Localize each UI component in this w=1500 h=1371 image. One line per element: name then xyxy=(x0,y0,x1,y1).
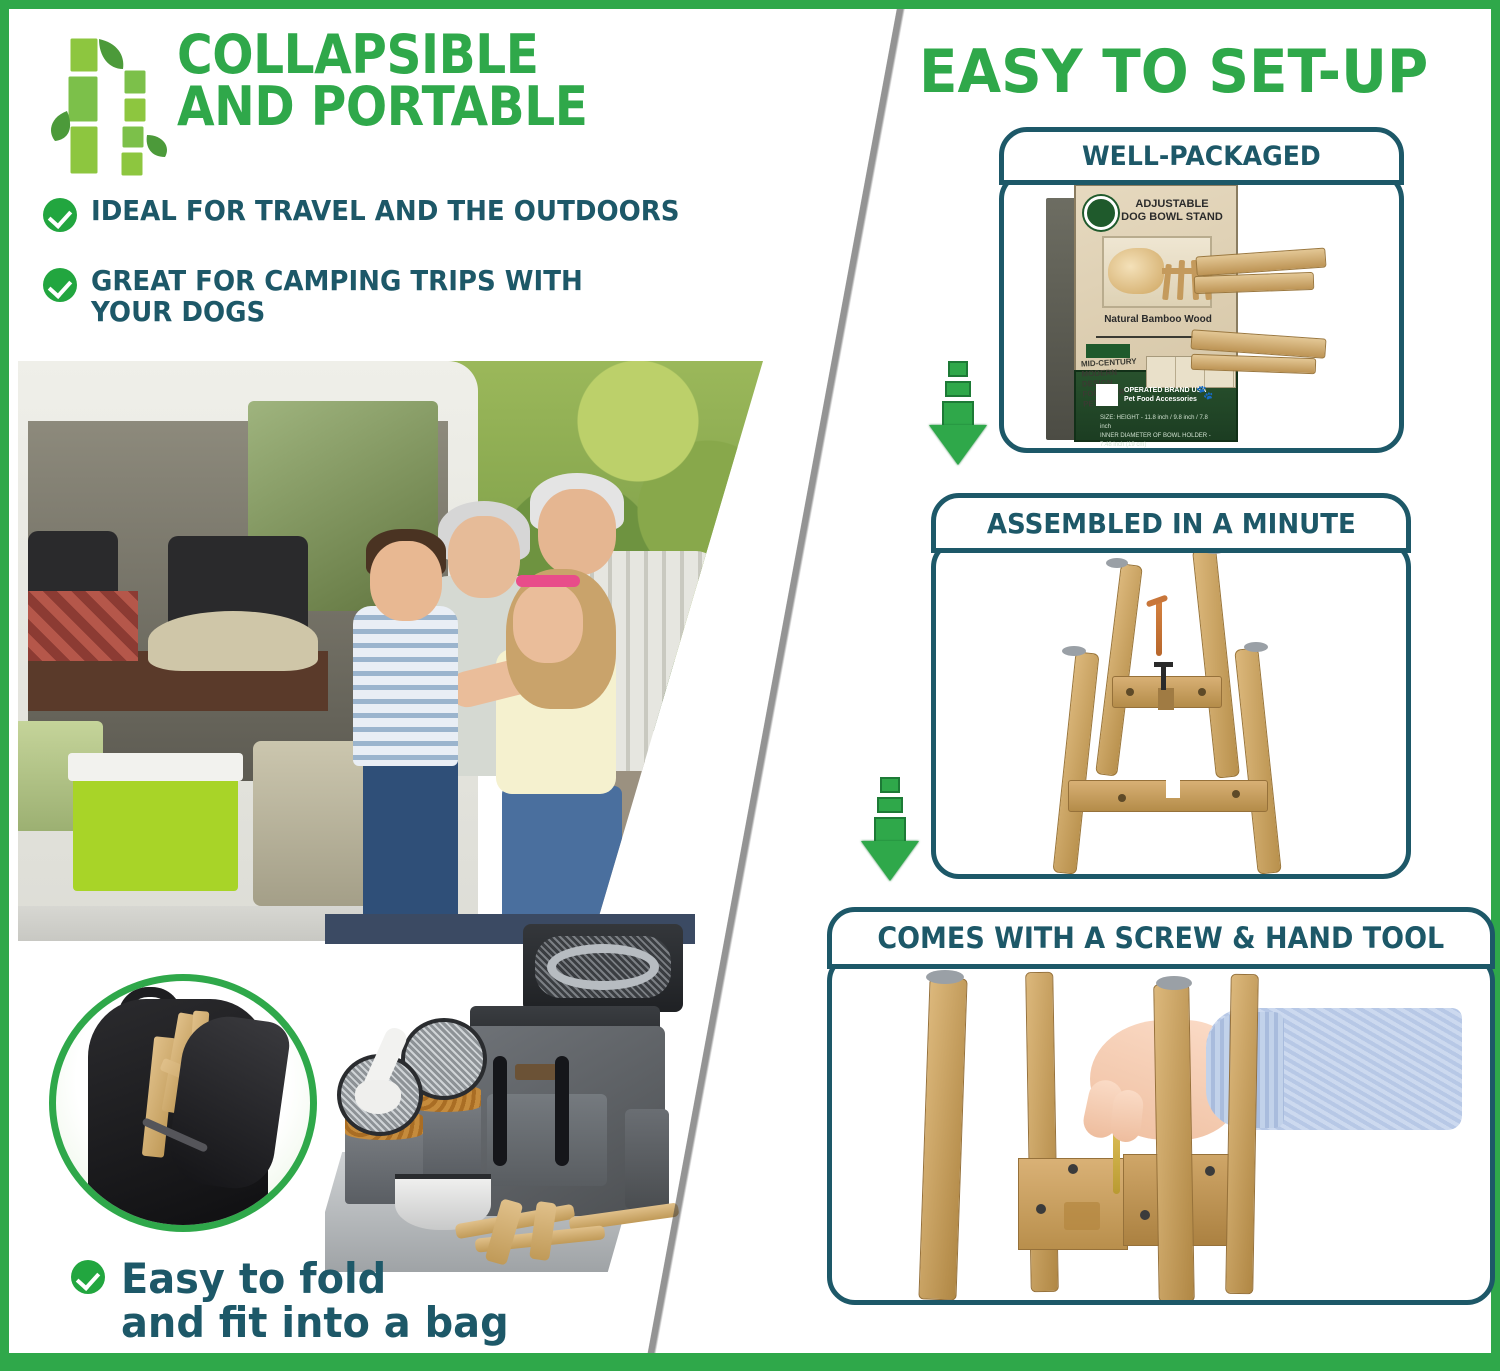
infographic-root: COLLAPSIBLE AND PORTABLE IDEAL FOR TRAVE… xyxy=(0,0,1500,1371)
packaged-box-image: ADJUSTABLE DOG BOWL STAND Natural Bamboo… xyxy=(1046,184,1246,448)
step-3-image-box xyxy=(827,953,1495,1305)
bamboo-icon xyxy=(47,31,172,186)
left-panel: COLLAPSIBLE AND PORTABLE IDEAL FOR TRAVE… xyxy=(9,9,859,1362)
feature-bullet-text: GREAT FOR CAMPING TRIPS WITH YOUR DOGS xyxy=(91,265,583,328)
step-2-label-box: ASSEMBLED IN A MINUTE xyxy=(931,493,1411,553)
step-2-label: ASSEMBLED IN A MINUTE xyxy=(987,507,1356,540)
step-2-image-box xyxy=(931,539,1411,879)
package-subtitle: Natural Bamboo Wood xyxy=(1102,314,1214,325)
bottom-border xyxy=(9,1353,1491,1362)
screw-icon xyxy=(1161,664,1166,690)
backpack-inset-image xyxy=(49,974,317,1232)
step-1-label: WELL-PACKAGED xyxy=(1082,141,1321,172)
package-footer-text: SIZE: HEIGHT - 11.8 inch / 9.8 inch / 7.… xyxy=(1100,414,1220,453)
page-title: COLLAPSIBLE AND PORTABLE xyxy=(177,29,645,134)
family-with-dog-photo xyxy=(18,361,763,941)
travel-bag-set-photo xyxy=(325,914,695,1274)
folded-stand-image xyxy=(1006,548,1336,870)
package-title: ADJUSTABLE DOG BOWL STAND xyxy=(1112,198,1232,223)
feature-bullet-text: IDEAL FOR TRAVEL AND THE OUTDOORS xyxy=(91,195,680,226)
headline-line-2: AND PORTABLE xyxy=(177,81,645,133)
allen-key-icon xyxy=(1156,600,1162,656)
check-circle-icon xyxy=(43,198,77,232)
feature-bullet: IDEAL FOR TRAVEL AND THE OUTDOORS xyxy=(43,195,823,232)
step-arrow-2 xyxy=(861,777,919,881)
brand-mark-icon xyxy=(1096,384,1118,406)
hand-assembly-image xyxy=(868,962,1468,1302)
closing-feature-text: Easy to fold and fit into a bag xyxy=(121,1257,509,1345)
leash-icon xyxy=(547,944,659,990)
step-1-image-box: ADJUSTABLE DOG BOWL STAND Natural Bamboo… xyxy=(999,171,1404,453)
right-panel: EASY TO SET-UP WELL-PACKAGED ADJUSTABLE … xyxy=(809,9,1500,1362)
step-3-label-box: COMES WITH A SCREW & HAND TOOL xyxy=(827,907,1495,969)
package-brand-text: OPERATED BRAND USA Pet Food Accessories xyxy=(1124,386,1206,404)
step-1-label-box: WELL-PACKAGED xyxy=(999,127,1404,185)
check-circle-icon xyxy=(71,1260,105,1294)
closing-feature: Easy to fold and fit into a bag xyxy=(71,1257,529,1345)
check-circle-icon xyxy=(43,268,77,302)
paw-icon: 🐾 xyxy=(1196,384,1212,400)
feature-bullet: GREAT FOR CAMPING TRIPS WITH YOUR DOGS xyxy=(43,265,743,328)
step-3-label: COMES WITH A SCREW & HAND TOOL xyxy=(878,921,1445,955)
section-title: EASY TO SET-UP xyxy=(919,37,1483,107)
step-arrow-1 xyxy=(929,361,987,465)
